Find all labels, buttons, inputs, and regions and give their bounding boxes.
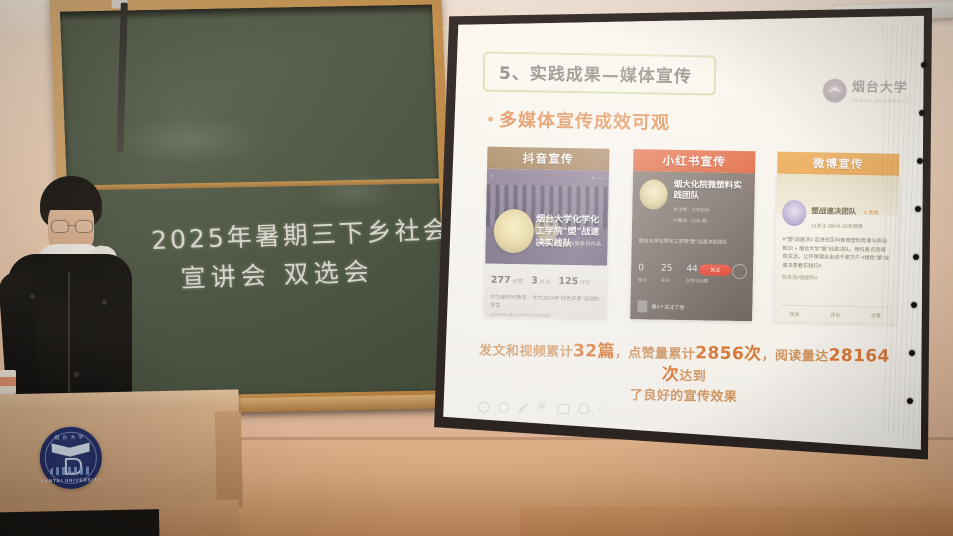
xiaohongshu-stat: 0笔记 [638, 257, 647, 283]
xiaohongshu-profile-text: 烟大化院微塑料实践团队 关注数：2786694 IP属地：山东·烟 [673, 180, 748, 225]
xiaohongshu-stat-label: 获赞与收藏 [686, 278, 708, 284]
douyin-stat-label: 点赞 [512, 279, 523, 285]
conclusion-num-3: 28164 [828, 346, 890, 367]
card-douyin: 抖音宣传 ‹ ⌕ ⋯ 烟台大学 [484, 147, 609, 319]
slide-title-box: 5、实践成果—媒体宣传 [483, 51, 717, 95]
card-weibo-meta: 14关注 8粉丝 66条微博 [811, 222, 878, 230]
university-name-cn: 烟台大学 [852, 80, 908, 96]
university-logo-text: 烟台大学 YANTAI UNIVERSITY [852, 78, 911, 104]
weibo-profile-text: 塑战速决团队 V 会员 14关注 8粉丝 66条微博 [811, 200, 879, 230]
presenter-person [6, 176, 132, 416]
pen-icon[interactable] [518, 403, 528, 413]
card-weibo: 微博宣传 塑战速决团队 V 会员 [774, 152, 899, 324]
screen-grommet [907, 398, 913, 404]
douyin-stat: 125评论 [558, 271, 591, 290]
douyin-stat-label: 评论 [580, 280, 591, 286]
card-weibo-post: #"塑"战速决# 走进社区科普微塑料危害与防治知识 + 烟台大学"塑"战速决队，… [782, 236, 891, 272]
glasses-icon [51, 220, 93, 231]
chalkboard-line-2: 宣讲会 双选会 [180, 252, 375, 295]
card-douyin-header: 抖音宣传 [487, 147, 609, 171]
next-icon[interactable] [498, 402, 509, 413]
card-weibo-account: 塑战速决团队 [811, 206, 856, 216]
card-xiaohongshu-account: 烟大化院微塑料实践团队 [673, 180, 747, 203]
weibo-profile-row: 塑战速决团队 V 会员 14关注 8粉丝 66条微博 [782, 200, 879, 231]
bullet-dot-icon [488, 116, 493, 121]
screen-grommet [915, 206, 921, 212]
card-xiaohongshu-meta-1: 关注数：2786694 [673, 206, 747, 214]
seal-text-cn: 烟台大学 [39, 433, 101, 441]
screen-grommet [909, 350, 915, 356]
previous-icon[interactable] [478, 402, 489, 413]
douyin-stat-label: 关注 [539, 280, 550, 286]
university-seal: 烟台大学 1984 YANTAI UNIVERSITY [39, 426, 102, 489]
powerpoint-slide: 5、实践成果—媒体宣传 多媒体宣传成效可观 烟台大学 YANTAI UNIVER… [448, 21, 926, 449]
douyin-app-topbar: ‹ ⌕ ⋯ [487, 171, 609, 185]
slide-conclusion: 发文和视频累计32篇，点赞量累计2856次，阅读量达28164次达到 了良好的宣… [476, 339, 891, 410]
xiaohongshu-stat-label: 笔记 [638, 277, 647, 283]
university-crest-icon [823, 78, 847, 102]
search-icon: ⌕ [591, 175, 595, 182]
card-weibo-post-tail: 转发自#微塑料# [782, 274, 818, 282]
xiaohongshu-stat-value: 25 [661, 264, 673, 274]
lectern-podium: 烟台大学 1984 YANTAI UNIVERSITY [0, 389, 242, 536]
screen-grommet [921, 62, 927, 68]
card-xiaohongshu-follow-button[interactable]: 关注 [699, 264, 731, 276]
card-xiaohongshu-body: 烟大化院微塑料实践团队 关注数：2786694 IP属地：山东·烟 烟台大学化学… [630, 171, 755, 321]
weibo-action-like[interactable]: 点赞 [871, 312, 881, 319]
conclusion-text-4: 达到 [679, 369, 706, 384]
xiaohongshu-stat-label: 关注 [661, 278, 673, 284]
xiaohongshu-stat: 25关注 [661, 258, 673, 284]
screen-grommet [913, 254, 919, 260]
screen-grommet [917, 158, 923, 164]
more-icon: ⋯ [599, 175, 605, 182]
university-name-en: YANTAI UNIVERSITY [852, 98, 910, 104]
xiaohongshu-profile-row: 烟大化院微塑料实践团队 关注数：2786694 IP属地：山东·烟 [639, 179, 748, 225]
screen-grommet [911, 302, 917, 308]
card-xiaohongshu: 小红书宣传 烟大化院微塑料实践团队 关注数：2786694 IP属地：山东·烟 [630, 149, 755, 321]
conclusion-text-3: ，阅读量达 [761, 348, 828, 364]
xiaohongshu-stat-value: 44 [686, 264, 698, 274]
douyin-stats: 277点赞 3关注 125评论 作为新时代青年，作为2024年"绿色开紫"活动的… [484, 264, 607, 319]
back-chevron-icon: ‹ [491, 174, 493, 180]
weibo-action-comment[interactable]: 评论 [830, 312, 840, 319]
douyin-stat-value: 3 [531, 275, 538, 286]
weibo-name-row: 塑战速决团队 V 会员 [811, 200, 879, 219]
douyin-stat-value: 125 [558, 276, 578, 287]
conclusion-unit-3: 次 [662, 365, 680, 385]
card-xiaohongshu-header: 小红书宣传 [633, 149, 755, 173]
floor-strip [520, 506, 953, 536]
douyin-team-badge [493, 209, 534, 254]
weibo-action-repost[interactable]: 转发 [789, 311, 799, 318]
card-weibo-body: 塑战速决团队 V 会员 14关注 8粉丝 66条微博 #"塑"战速决# 走进社区… [774, 174, 899, 324]
zoom-icon[interactable] [578, 403, 589, 414]
douyin-screenshot: ‹ ⌕ ⋯ 烟台大学化学化工学院"塑"战速决实践队 科普有"塑"·微科普系列作品 [485, 169, 609, 266]
slide-grid-icon[interactable] [557, 403, 569, 413]
xiaohongshu-stat-value: 0 [638, 263, 644, 273]
slide-bullet-text: 多媒体宣传成效可观 [499, 106, 671, 135]
card-xiaohongshu-footer-text: 第4个关注了他 [651, 303, 684, 311]
conclusion-text-1: 发文和视频累计 [479, 344, 573, 361]
card-weibo-vip-badge: V 会员 [864, 210, 879, 216]
conclusion-unit-2: 次 [744, 344, 762, 364]
douyin-stat-row: 277点赞 3关注 125评论 [491, 270, 601, 290]
podium-recess [0, 509, 160, 536]
classroom-photo: 2025年暑期三下乡社会实践 宣讲会 双选会 5、实践成果—媒体宣传 多媒体宣传… [0, 0, 953, 536]
card-douyin-body: ‹ ⌕ ⋯ 烟台大学化学化工学院"塑"战速决实践队 科普有"塑"·微科普系列作品 [484, 169, 609, 319]
card-douyin-footnote: 2024年8月·烟台 | 化学化工学院实践队 [490, 313, 600, 319]
card-xiaohongshu-meta-2: IP属地：山东·烟 [673, 217, 747, 225]
jacket-button [74, 372, 79, 377]
douyin-stat: 3关注 [531, 270, 551, 288]
card-douyin-description: 作为新时代青年，作为2024年"绿色开紫"活动的学生 [490, 294, 600, 312]
xiaohongshu-footer: 第4个关注了他 [637, 300, 684, 313]
jacket-zipper [68, 272, 70, 402]
xiaohongshu-avatar [639, 179, 668, 209]
card-xiaohongshu-description: 烟台大学化学化工学院"塑"战速决实践队 [639, 237, 747, 247]
podium-front-panel [0, 410, 221, 507]
highlight-icon[interactable]: ✻ [537, 403, 548, 414]
weibo-divider [780, 305, 890, 308]
media-cards: 抖音宣传 ‹ ⌕ ⋯ 烟台大学 [484, 147, 900, 329]
university-logo: 烟台大学 YANTAI UNIVERSITY [823, 77, 911, 104]
conclusion-text-2: ，点赞量累计 [615, 346, 696, 362]
slide-title: 5、实践成果—媒体宣传 [499, 59, 692, 87]
douyin-stat: 277点赞 [491, 270, 524, 289]
person-brow [67, 225, 77, 226]
person-icon [637, 300, 647, 312]
card-weibo-header: 微博宣传 [777, 152, 899, 176]
seal-year: 1984 [40, 470, 102, 475]
screen-grommet [919, 110, 925, 116]
projection-screen: 5、实践成果—媒体宣传 多媒体宣传成效可观 烟台大学 YANTAI UNIVER… [427, 6, 932, 476]
jacket-button [30, 294, 35, 299]
card-douyin-subtitle: 科普有"塑"·微科普系列作品 [536, 239, 602, 247]
douyin-stat-value: 277 [491, 275, 511, 286]
conclusion-num-1: 32 [573, 341, 598, 361]
more-icon[interactable]: ‹ [598, 404, 602, 414]
screen-canvas: 5、实践成果—媒体宣传 多媒体宣传成效可观 烟台大学 YANTAI UNIVER… [427, 6, 932, 476]
weibo-screenshot: 塑战速决团队 V 会员 14关注 8粉丝 66条微博 #"塑"战速决# 走进社区… [774, 174, 899, 324]
powerpoint-presenter-toolbar[interactable]: ✻ ‹ [478, 402, 602, 415]
podium-side-panel [215, 411, 243, 508]
paper-cup [0, 370, 16, 396]
weibo-actions: 转发 评论 点赞 [774, 311, 896, 320]
conclusion-num-2: 2856 [695, 343, 744, 364]
conclusion-unit-1: 篇 [597, 342, 615, 362]
person-fringe [41, 188, 101, 210]
xiaohongshu-screenshot: 烟大化院微塑料实践团队 关注数：2786694 IP属地：山东·烟 烟台大学化学… [630, 171, 755, 321]
slide-bullet-row: 多媒体宣传成效可观 [488, 106, 671, 135]
weibo-avatar [782, 200, 807, 226]
jacket-button [102, 300, 107, 305]
cup-band [0, 377, 16, 386]
